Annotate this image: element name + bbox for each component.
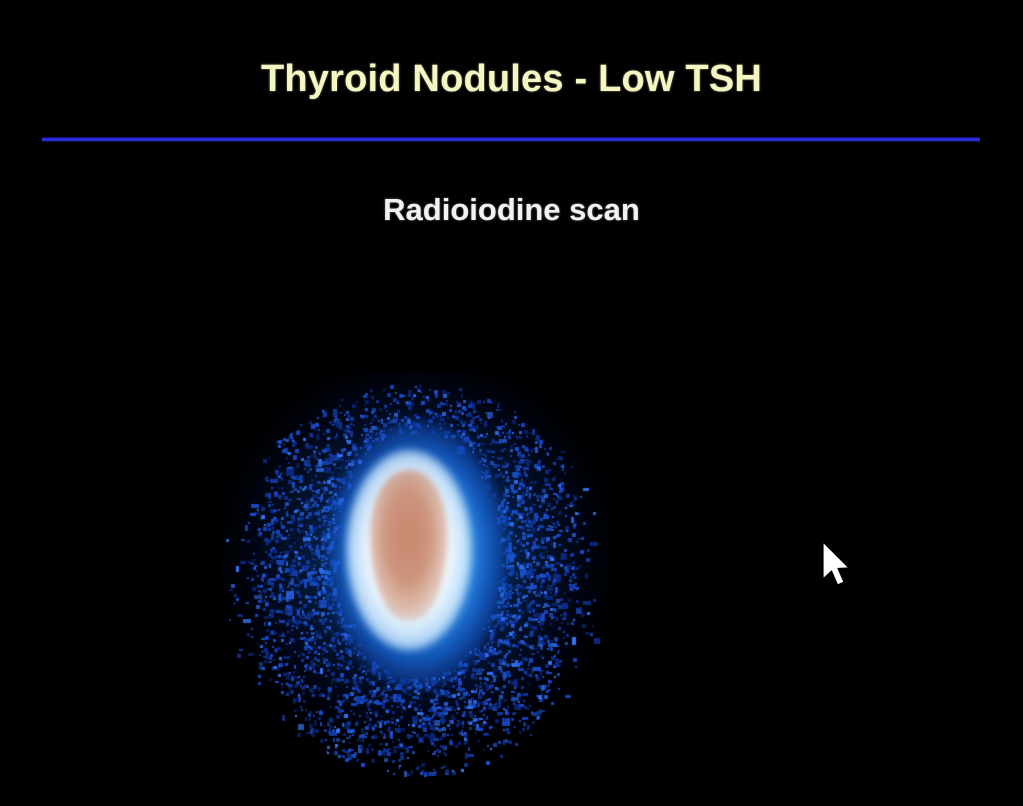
page-title: Thyroid Nodules - Low TSH [0,58,1023,101]
scan-hot-nodule-core [370,470,448,620]
title-divider-rule [42,137,980,142]
radioiodine-scan-image [215,372,615,778]
arrow-pointer-icon [820,540,854,592]
mouse-cursor [820,540,854,592]
slide-subtitle: Radioiodine scan [0,192,1023,228]
presentation-slide: Thyroid Nodules - Low TSH Radioiodine sc… [0,0,1023,806]
